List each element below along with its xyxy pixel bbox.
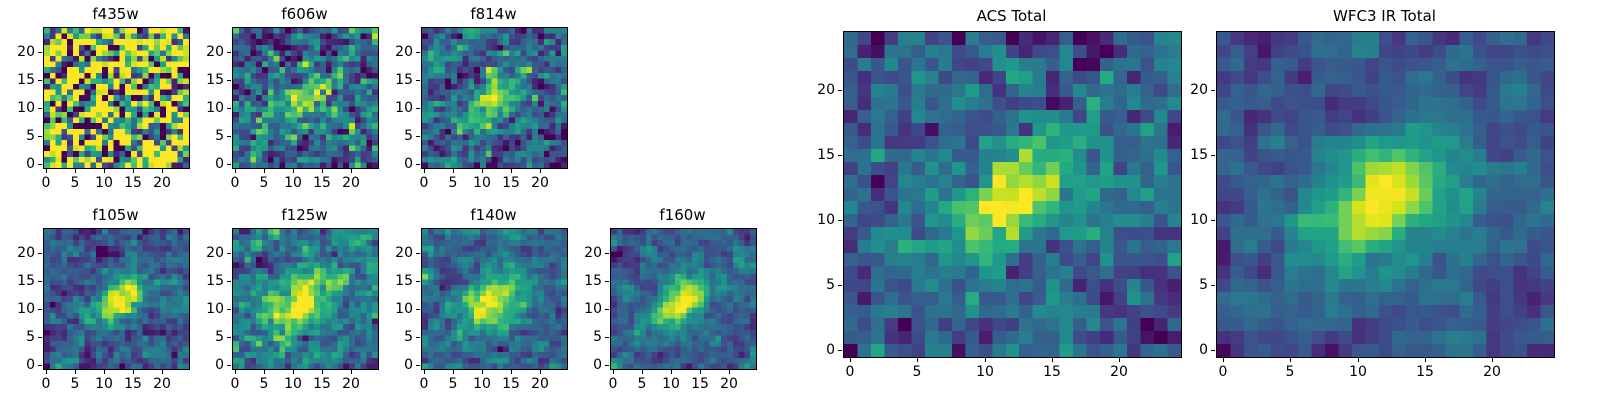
stamp-image-f160w xyxy=(611,229,756,369)
y-tick-label: 5 xyxy=(0,127,35,145)
y-tick-label: 0 xyxy=(1164,341,1208,359)
stamp-image-f435w xyxy=(44,28,189,168)
y-tick-mark xyxy=(416,281,420,282)
y-tick-mark xyxy=(1211,155,1215,156)
y-tick-label: 20 xyxy=(369,43,413,61)
y-tick-label: 10 xyxy=(1164,211,1208,229)
x-tick-label: 5 xyxy=(1270,363,1310,381)
y-tick-label: 10 xyxy=(180,300,224,318)
x-tick-mark xyxy=(729,370,730,374)
y-tick-label: 0 xyxy=(0,356,35,374)
x-tick-label: 20 xyxy=(1472,363,1512,381)
panel-title-f435w: f435w xyxy=(43,5,188,24)
axes-f105w xyxy=(43,228,190,370)
panel-f435w: f435w0055101015152020 xyxy=(43,27,188,167)
x-tick-label: 20 xyxy=(142,375,182,393)
x-tick-mark xyxy=(453,370,454,374)
y-tick-mark xyxy=(605,365,609,366)
x-tick-mark xyxy=(133,370,134,374)
y-tick-mark xyxy=(227,164,231,165)
x-tick-mark xyxy=(1223,358,1224,362)
y-tick-label: 20 xyxy=(180,244,224,262)
y-tick-mark xyxy=(416,337,420,338)
x-tick-mark xyxy=(46,169,47,173)
x-tick-label: 20 xyxy=(520,375,560,393)
panel-wfc3-ir-total: WFC3 IR Total0055101015152020 xyxy=(1216,31,1553,356)
x-tick-label: 5 xyxy=(897,363,937,381)
x-tick-mark xyxy=(424,169,425,173)
y-tick-mark xyxy=(38,80,42,81)
x-tick-mark xyxy=(613,370,614,374)
y-tick-mark xyxy=(416,309,420,310)
panel-f160w: f160w0055101015152020 xyxy=(610,228,755,368)
panel-f140w: f140w0055101015152020 xyxy=(421,228,566,368)
y-tick-label: 15 xyxy=(0,272,35,290)
y-tick-mark xyxy=(416,253,420,254)
axes-f125w xyxy=(232,228,379,370)
y-tick-label: 0 xyxy=(0,155,35,173)
x-tick-mark xyxy=(642,370,643,374)
x-tick-mark xyxy=(671,370,672,374)
x-tick-mark xyxy=(1358,358,1359,362)
y-tick-label: 20 xyxy=(791,81,835,99)
stamp-image-f140w xyxy=(422,229,567,369)
y-tick-label: 20 xyxy=(1164,81,1208,99)
x-tick-mark xyxy=(293,370,294,374)
x-tick-mark xyxy=(1492,358,1493,362)
stamp-image-f105w xyxy=(44,229,189,369)
x-tick-mark xyxy=(133,169,134,173)
y-tick-mark xyxy=(416,136,420,137)
y-tick-label: 10 xyxy=(0,99,35,117)
x-tick-mark xyxy=(264,169,265,173)
y-tick-label: 20 xyxy=(0,43,35,61)
x-tick-label: 20 xyxy=(709,375,749,393)
y-tick-mark xyxy=(838,155,842,156)
panel-title-f140w: f140w xyxy=(421,206,566,225)
y-tick-mark xyxy=(38,365,42,366)
x-tick-mark xyxy=(1425,358,1426,362)
y-tick-mark xyxy=(416,52,420,53)
y-tick-mark xyxy=(416,365,420,366)
y-tick-label: 10 xyxy=(369,300,413,318)
x-tick-label: 20 xyxy=(1099,363,1139,381)
panel-f125w: f125w0055101015152020 xyxy=(232,228,377,368)
y-tick-label: 0 xyxy=(369,155,413,173)
panel-acs-total: ACS Total0055101015152020 xyxy=(843,31,1180,356)
y-tick-mark xyxy=(38,136,42,137)
y-tick-mark xyxy=(1211,220,1215,221)
y-tick-mark xyxy=(416,80,420,81)
y-tick-label: 15 xyxy=(369,71,413,89)
x-tick-mark xyxy=(917,358,918,362)
x-tick-mark xyxy=(985,358,986,362)
y-tick-mark xyxy=(227,281,231,282)
y-tick-label: 5 xyxy=(180,127,224,145)
x-tick-mark xyxy=(540,169,541,173)
x-tick-mark xyxy=(482,169,483,173)
y-tick-mark xyxy=(38,52,42,53)
x-tick-mark xyxy=(424,370,425,374)
y-tick-label: 5 xyxy=(791,276,835,294)
y-tick-label: 0 xyxy=(180,155,224,173)
stamp-image-f606w xyxy=(233,28,378,168)
y-tick-label: 0 xyxy=(369,356,413,374)
x-tick-mark xyxy=(700,370,701,374)
y-tick-mark xyxy=(227,136,231,137)
y-tick-label: 15 xyxy=(180,272,224,290)
panel-title-f105w: f105w xyxy=(43,206,188,225)
x-tick-mark xyxy=(322,169,323,173)
x-tick-mark xyxy=(75,370,76,374)
y-tick-label: 10 xyxy=(369,99,413,117)
x-tick-label: 20 xyxy=(331,375,371,393)
panel-f606w: f606w0055101015152020 xyxy=(232,27,377,167)
y-tick-mark xyxy=(838,285,842,286)
y-tick-mark xyxy=(227,52,231,53)
x-tick-mark xyxy=(351,169,352,173)
y-tick-mark xyxy=(416,108,420,109)
stamp-image-f125w xyxy=(233,229,378,369)
x-tick-mark xyxy=(264,370,265,374)
y-tick-mark xyxy=(838,90,842,91)
stamp-image-acs-total xyxy=(844,32,1181,357)
x-tick-mark xyxy=(540,370,541,374)
y-tick-label: 20 xyxy=(0,244,35,262)
x-tick-label: 10 xyxy=(1338,363,1378,381)
panel-title-wfc3-ir-total: WFC3 IR Total xyxy=(1216,7,1553,26)
x-tick-label: 0 xyxy=(830,363,870,381)
y-tick-label: 20 xyxy=(558,244,602,262)
y-tick-mark xyxy=(38,309,42,310)
y-tick-label: 20 xyxy=(180,43,224,61)
panel-title-f125w: f125w xyxy=(232,206,377,225)
y-tick-label: 0 xyxy=(558,356,602,374)
x-tick-mark xyxy=(162,169,163,173)
x-tick-mark xyxy=(235,370,236,374)
axes-f606w xyxy=(232,27,379,169)
figure-canvas: f435w0055101015152020f606w00551010151520… xyxy=(0,0,1600,400)
panel-title-f814w: f814w xyxy=(421,5,566,24)
y-tick-label: 20 xyxy=(369,244,413,262)
y-tick-label: 0 xyxy=(180,356,224,374)
x-tick-label: 15 xyxy=(1405,363,1445,381)
x-tick-mark xyxy=(351,370,352,374)
y-tick-mark xyxy=(227,80,231,81)
y-tick-label: 15 xyxy=(369,272,413,290)
x-tick-label: 10 xyxy=(965,363,1005,381)
y-tick-label: 5 xyxy=(369,328,413,346)
y-tick-mark xyxy=(1211,90,1215,91)
y-tick-label: 5 xyxy=(558,328,602,346)
x-tick-mark xyxy=(1290,358,1291,362)
y-tick-mark xyxy=(605,281,609,282)
y-tick-mark xyxy=(227,365,231,366)
y-tick-label: 15 xyxy=(791,146,835,164)
y-tick-label: 15 xyxy=(180,71,224,89)
panel-title-f160w: f160w xyxy=(610,206,755,225)
y-tick-mark xyxy=(227,108,231,109)
y-tick-label: 10 xyxy=(180,99,224,117)
x-tick-label: 20 xyxy=(142,174,182,192)
axes-f140w xyxy=(421,228,568,370)
x-tick-mark xyxy=(293,169,294,173)
y-tick-mark xyxy=(38,253,42,254)
y-tick-mark xyxy=(838,350,842,351)
axes-f814w xyxy=(421,27,568,169)
y-tick-mark xyxy=(227,309,231,310)
x-tick-mark xyxy=(511,370,512,374)
x-tick-mark xyxy=(46,370,47,374)
y-tick-label: 5 xyxy=(369,127,413,145)
x-tick-label: 15 xyxy=(1032,363,1072,381)
stamp-image-wfc3-ir-total xyxy=(1217,32,1554,357)
x-tick-mark xyxy=(104,370,105,374)
x-tick-mark xyxy=(453,169,454,173)
x-tick-label: 0 xyxy=(1203,363,1243,381)
x-tick-mark xyxy=(104,169,105,173)
x-tick-mark xyxy=(850,358,851,362)
y-tick-mark xyxy=(38,281,42,282)
axes-f435w xyxy=(43,27,190,169)
y-tick-mark xyxy=(227,337,231,338)
panel-f105w: f105w0055101015152020 xyxy=(43,228,188,368)
y-tick-label: 5 xyxy=(180,328,224,346)
x-tick-mark xyxy=(75,169,76,173)
stamp-image-f814w xyxy=(422,28,567,168)
x-tick-mark xyxy=(1052,358,1053,362)
y-tick-label: 0 xyxy=(791,341,835,359)
x-tick-mark xyxy=(162,370,163,374)
y-tick-mark xyxy=(227,253,231,254)
y-tick-label: 15 xyxy=(0,71,35,89)
x-tick-mark xyxy=(235,169,236,173)
y-tick-label: 5 xyxy=(1164,276,1208,294)
x-tick-mark xyxy=(511,169,512,173)
y-tick-label: 10 xyxy=(0,300,35,318)
y-tick-label: 10 xyxy=(558,300,602,318)
y-tick-label: 5 xyxy=(0,328,35,346)
panel-f814w: f814w0055101015152020 xyxy=(421,27,566,167)
y-tick-mark xyxy=(1211,350,1215,351)
y-tick-mark xyxy=(38,108,42,109)
y-tick-mark xyxy=(605,309,609,310)
x-tick-mark xyxy=(322,370,323,374)
axes-wfc3-ir-total xyxy=(1216,31,1555,358)
axes-acs-total xyxy=(843,31,1182,358)
axes-f160w xyxy=(610,228,757,370)
x-tick-label: 20 xyxy=(331,174,371,192)
y-tick-label: 15 xyxy=(558,272,602,290)
y-tick-mark xyxy=(605,253,609,254)
y-tick-label: 15 xyxy=(1164,146,1208,164)
y-tick-label: 10 xyxy=(791,211,835,229)
panel-title-f606w: f606w xyxy=(232,5,377,24)
y-tick-mark xyxy=(838,220,842,221)
y-tick-mark xyxy=(38,164,42,165)
y-tick-mark xyxy=(1211,285,1215,286)
x-tick-mark xyxy=(1119,358,1120,362)
x-tick-label: 20 xyxy=(520,174,560,192)
x-tick-mark xyxy=(482,370,483,374)
y-tick-mark xyxy=(38,337,42,338)
y-tick-mark xyxy=(605,337,609,338)
y-tick-mark xyxy=(416,164,420,165)
panel-title-acs-total: ACS Total xyxy=(843,7,1180,26)
